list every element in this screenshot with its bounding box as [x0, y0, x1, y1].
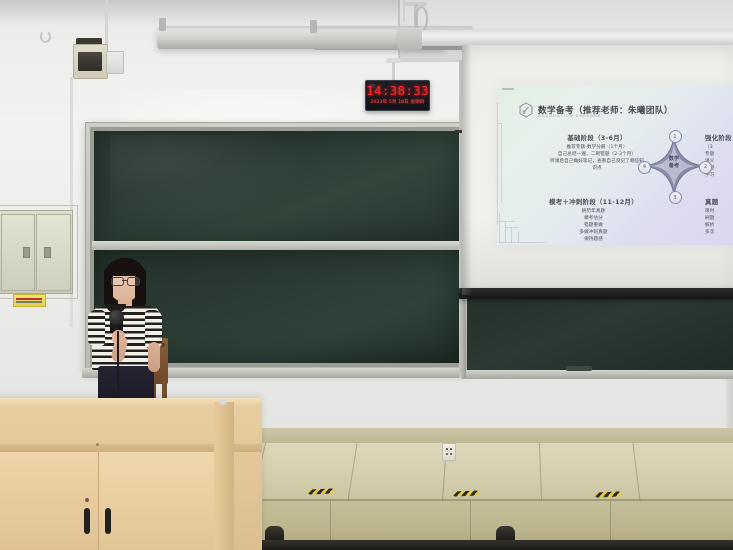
student-presenter [79, 258, 175, 406]
power-outlet[interactable] [442, 443, 456, 461]
lectern-screw [96, 443, 99, 446]
lectern-handle-right[interactable] [105, 508, 111, 534]
label-stripe-1 [16, 298, 42, 300]
lens-left [111, 277, 124, 286]
light-bracket-right [310, 20, 317, 33]
block-line: 保持题感 [521, 236, 666, 243]
outlet-slot [450, 448, 452, 450]
projection-screen-housing[interactable] [400, 30, 733, 46]
clock-date-display: 2023年 5月 18日 星期四 [366, 99, 429, 105]
block-line: 解析 [705, 222, 733, 229]
wall-top-shadow [0, 0, 400, 26]
outlet-slot [446, 448, 448, 450]
blackboard-light-reflection [110, 135, 310, 225]
blackboard-center-rail [92, 241, 462, 250]
slide-block-final: 真题 限时 刷题 解析 多次 [705, 197, 733, 236]
screen-bottom-weight-bar[interactable] [459, 288, 733, 299]
label-stripe-2 [16, 301, 42, 303]
electrical-panel-cabinet[interactable] [0, 210, 73, 294]
block-line: 多做冲刺真题 [521, 229, 666, 236]
block-line: 多次 [705, 229, 733, 236]
presentation-slide: 数学备考（推荐老师：朱曦团队） GRADUATION DEFENSE 基础阶段（… [497, 85, 733, 245]
screen-left-shadow [462, 45, 472, 295]
wall-baseboard [234, 428, 733, 443]
classroom-presentation-photo: 14:38:33 2023年 5月 18日 星期四 [0, 0, 733, 550]
outlet-slot [450, 453, 452, 455]
block-line: 刷题 [705, 215, 733, 222]
arm-right [148, 342, 160, 372]
panel-lock-icon-left [23, 247, 30, 258]
wall-hook-icon [40, 30, 51, 43]
panel-lock-icon-right [44, 247, 51, 258]
lectern-cable-notch [219, 400, 227, 405]
lectern-handle-left[interactable] [84, 508, 90, 534]
lectern-cabinet-door-left[interactable] [0, 452, 99, 550]
wall-mounted-speaker-unit [73, 44, 108, 79]
speaker-grille [78, 52, 102, 71]
blackboard-right-panel [467, 290, 733, 374]
wall-conduit [105, 0, 108, 46]
light-bracket-left [159, 18, 166, 31]
four-point-star-diagram: 数学 备考 1 2 3 4 [640, 132, 708, 200]
star-node-2: 2 [699, 161, 712, 174]
star-label-line2: 备考 [669, 163, 679, 169]
screen-housing-end-cap [397, 28, 422, 50]
graduation-badge-icon [519, 102, 533, 118]
slide-decor-left [497, 103, 506, 225]
block-heading: 真题 [705, 197, 733, 206]
sleeve-left [88, 310, 105, 346]
clock-time-display: 14:38:33 [366, 83, 429, 98]
star-node-1: 1 [669, 130, 682, 143]
blackboard-eraser [566, 366, 592, 371]
clock-mount-post [392, 62, 395, 80]
led-wall-clock: 14:38:33 2023年 5月 18日 星期四 [365, 80, 430, 111]
block-line: 刷历年真题 [521, 208, 666, 215]
star-node-4: 4 [638, 161, 651, 174]
slide-top-accent [502, 88, 514, 90]
block-line: 模考估分 [521, 215, 666, 222]
outlet-slot [446, 453, 448, 455]
star-node-3: 3 [669, 191, 682, 204]
block-heading: 强化阶段 [705, 133, 733, 142]
lectern-cabinet-door-right[interactable] [99, 452, 215, 550]
panel-door-right[interactable] [36, 214, 71, 291]
slide-block-mock-sprint: 模考＋冲刺阶段（11-12月） 刷历年真题 模考估分 错题重做 多做冲刺真题 保… [521, 197, 666, 244]
lectern-keyhole [85, 498, 89, 502]
hair-left-strand [104, 268, 113, 306]
block-line: 错题重做 [521, 222, 666, 229]
star-center-label: 数学 备考 [660, 156, 688, 170]
wall-mounted-control-box [106, 51, 124, 74]
eyeglasses-icon [110, 277, 139, 284]
block-line: 专题 [705, 151, 733, 158]
star-label-line1: 数学 [669, 156, 679, 162]
lectern-side-panel [214, 402, 234, 550]
lens-right [127, 277, 140, 286]
block-line: 限时 [705, 208, 733, 215]
block-line: 学习 [705, 172, 733, 179]
blackboard-right-ledge [462, 370, 733, 379]
block-line: （3 [705, 144, 733, 151]
front-desk-rail [256, 540, 733, 550]
slide-subtitle: GRADUATION DEFENSE [538, 114, 601, 118]
microphone-head-icon [109, 310, 124, 325]
glasses-bridge [122, 280, 127, 281]
hair-right-strand [135, 268, 146, 308]
panel-warning-label [13, 294, 46, 307]
